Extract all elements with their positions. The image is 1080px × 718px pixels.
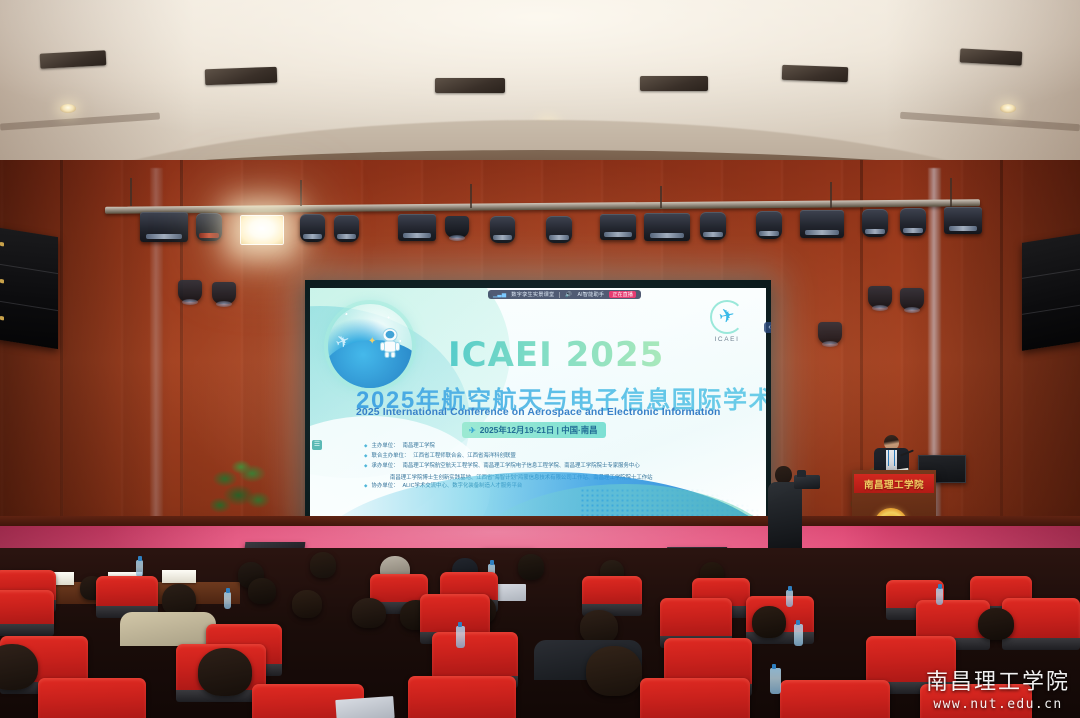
led-presentation-screen[interactable]: ✈ ✦ ▁▃▅ 数字孪生实景课堂 🔊 AI智能助手	[305, 280, 771, 532]
airplane-icon: ✈	[469, 426, 476, 435]
organizer-value: 南昌理工学院航空航天工程学院、南昌理工学院电子信息工程学院、南昌理工学院院士专家…	[403, 462, 640, 470]
collapse-chevron-icon[interactable]: ‹	[764, 322, 771, 333]
truss-hanger	[130, 178, 132, 206]
auditorium-seat	[38, 678, 146, 718]
auditorium-seat	[0, 590, 54, 628]
stage-par-light	[490, 216, 515, 243]
speaker-led	[0, 279, 4, 284]
moving-head-light	[212, 282, 236, 304]
presenter-lanyard	[888, 450, 895, 466]
stage-par-light	[546, 216, 572, 243]
moving-head-light	[818, 322, 842, 344]
truss-hanger	[950, 178, 952, 208]
videographer-body	[768, 482, 802, 554]
audience-head	[752, 606, 786, 638]
audience-head	[518, 554, 544, 580]
truss-hanger	[470, 184, 472, 208]
slide-title-en: ICAEI 2025	[448, 335, 664, 375]
stage-panel-light	[240, 215, 284, 245]
speaker-led	[0, 242, 4, 247]
podium-banner: 南昌理工学院	[854, 474, 934, 493]
conference-room-photo: ✈ ✦ ▁▃▅ 数字孪生实景课堂 🔊 AI智能助手	[0, 0, 1080, 718]
stage-par-light	[300, 214, 325, 242]
lamp-lens	[199, 233, 219, 238]
stage-fresnel-light	[600, 214, 636, 240]
ceiling-vent	[435, 78, 505, 93]
audience-shoulders	[120, 612, 216, 646]
auditorium-seat	[432, 632, 518, 680]
organizer-label: 联合主办单位：	[372, 452, 410, 460]
moving-head-light	[178, 280, 202, 302]
lamp-lens	[903, 228, 923, 233]
line-array-speaker	[1022, 233, 1080, 351]
moving-head-light	[445, 216, 469, 238]
ceiling	[0, 0, 1080, 175]
ceiling-vent	[205, 67, 278, 86]
slide-subtitle-en: 2025 International Conference on Aerospa…	[356, 407, 720, 418]
laptop	[335, 696, 394, 718]
lamp-lens	[805, 230, 838, 235]
stage-par-light	[862, 209, 888, 237]
auditorium-seat	[640, 678, 750, 718]
audience-head	[352, 598, 386, 628]
ceiling-vent	[782, 65, 848, 82]
lamp-lens	[493, 235, 512, 240]
diamond-bullet-icon: ◆	[364, 462, 368, 471]
auditorium-seat	[780, 680, 890, 718]
list-item: ◆ 主办单位： 南昌理工学院	[364, 442, 756, 451]
diamond-bullet-icon: ◆	[364, 442, 368, 451]
stage-par-light	[334, 215, 359, 242]
diamond-bullet-icon: ◆	[364, 452, 368, 461]
audience-head	[248, 578, 276, 604]
stage-fresnel-light	[944, 207, 982, 234]
lamp-lens	[949, 226, 978, 231]
auditorium-seat	[582, 576, 642, 608]
video-camera-icon	[794, 475, 820, 489]
diamond-bullet-icon: ◆	[364, 482, 368, 491]
audience-head	[198, 648, 252, 696]
lamp-lens	[146, 234, 182, 239]
ceiling-downlight	[60, 104, 76, 113]
auditorium-seat	[420, 594, 490, 636]
audience-head	[310, 552, 336, 578]
water-bottle	[136, 560, 143, 577]
line-array-speaker	[0, 227, 58, 349]
ceiling-vent	[640, 76, 708, 91]
ceiling-downlight	[1000, 104, 1016, 113]
stage-par-light	[756, 211, 782, 239]
lamp-lens	[604, 232, 631, 237]
water-bottle	[936, 588, 943, 605]
water-bottle	[794, 624, 803, 646]
organizer-label: 协办单位：	[372, 482, 399, 490]
stage-par-light	[900, 208, 926, 236]
organizer-value: 南昌理工学院	[403, 442, 435, 450]
auditorium-seat	[96, 576, 158, 610]
auditorium-seat	[660, 598, 732, 640]
stage-par-light	[196, 213, 222, 241]
conference-slide: ✈ ✦ ▁▃▅ 数字孪生实景课堂 🔊 AI智能助手	[310, 288, 766, 526]
stage-fresnel-light	[140, 212, 188, 242]
name-card	[162, 570, 196, 583]
auditorium-seat	[920, 684, 1032, 718]
truss-hanger	[830, 182, 832, 208]
lamp-lens	[549, 235, 569, 240]
stage-fresnel-light	[398, 214, 436, 241]
lamp-lens	[703, 232, 723, 237]
slide-date-badge: ✈ 2025年12月19-21日 | 中国·南昌	[462, 422, 606, 438]
lamp-lens	[865, 229, 885, 234]
truss-hanger	[660, 186, 662, 208]
list-item: ◆ 联合主办单位： 江西省工程师联合会、江西省海洋科创联盟	[364, 452, 756, 461]
auditorium-seat	[866, 636, 956, 686]
water-bottle	[786, 590, 793, 607]
water-bottle	[224, 592, 231, 609]
lamp-lens	[303, 234, 322, 239]
lamp-lens	[650, 233, 685, 238]
moving-head-light	[900, 288, 924, 310]
organizer-label: 主办单位：	[372, 442, 399, 450]
organizer-label: 承办单位：	[372, 462, 399, 470]
audience-head	[580, 610, 618, 644]
lamp-lens	[403, 233, 432, 238]
organizer-value: 江西省工程师联合会、江西省海洋科创联盟	[413, 452, 515, 460]
audience-head	[978, 608, 1014, 640]
lamp-lens	[759, 231, 779, 236]
truss-hanger	[300, 180, 302, 206]
stage-par-light	[700, 212, 726, 240]
list-item: ◆ 承办单位： 南昌理工学院航空航天工程学院、南昌理工学院电子信息工程学院、南昌…	[364, 462, 756, 471]
date-text: 2025年12月19-21日 | 中国·南昌	[480, 424, 598, 436]
audience-head	[586, 646, 642, 696]
menu-icon[interactable]: ☰	[312, 440, 322, 450]
moving-head-light	[868, 286, 892, 308]
auditorium-seat	[408, 676, 516, 718]
audience-area	[0, 548, 1080, 718]
audience-head	[292, 590, 322, 618]
stage-fresnel-light	[644, 213, 690, 241]
lamp-lens	[337, 234, 356, 239]
water-bottle	[456, 626, 465, 648]
stage-fresnel-light	[800, 210, 844, 238]
stage-edge-trim	[0, 516, 1080, 526]
speaker-led	[0, 316, 4, 321]
water-bottle	[770, 668, 781, 694]
